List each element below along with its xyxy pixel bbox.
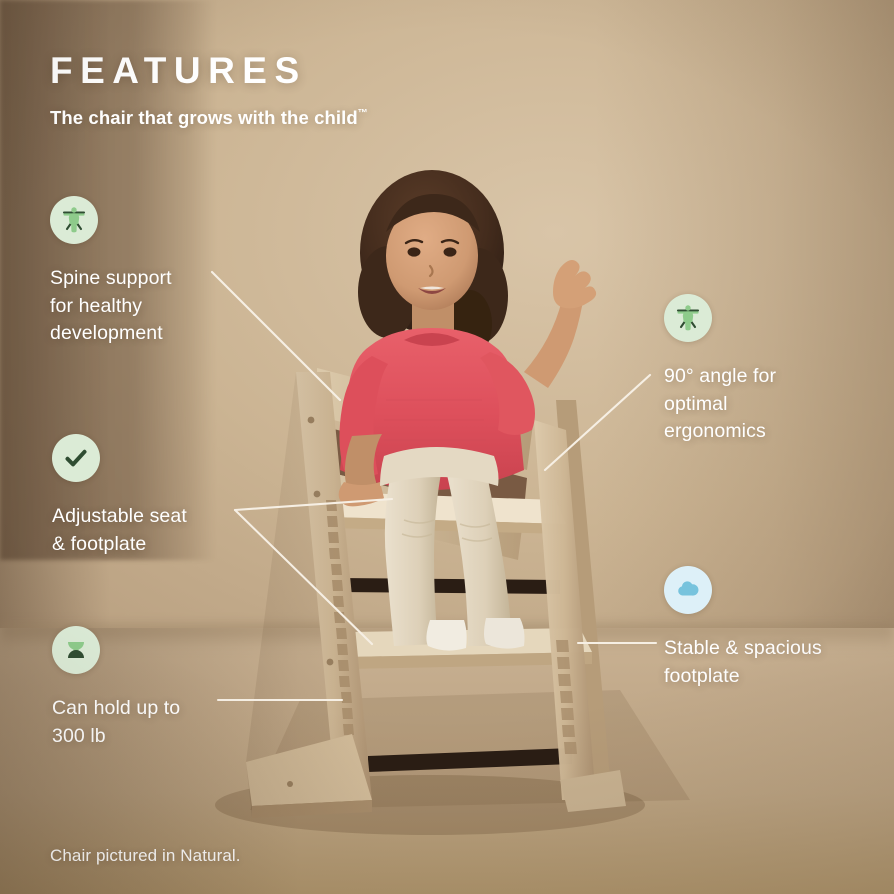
feature-infographic: FEATURES The chair that grows with the c… bbox=[0, 0, 894, 894]
vignette-overlay bbox=[0, 0, 894, 894]
